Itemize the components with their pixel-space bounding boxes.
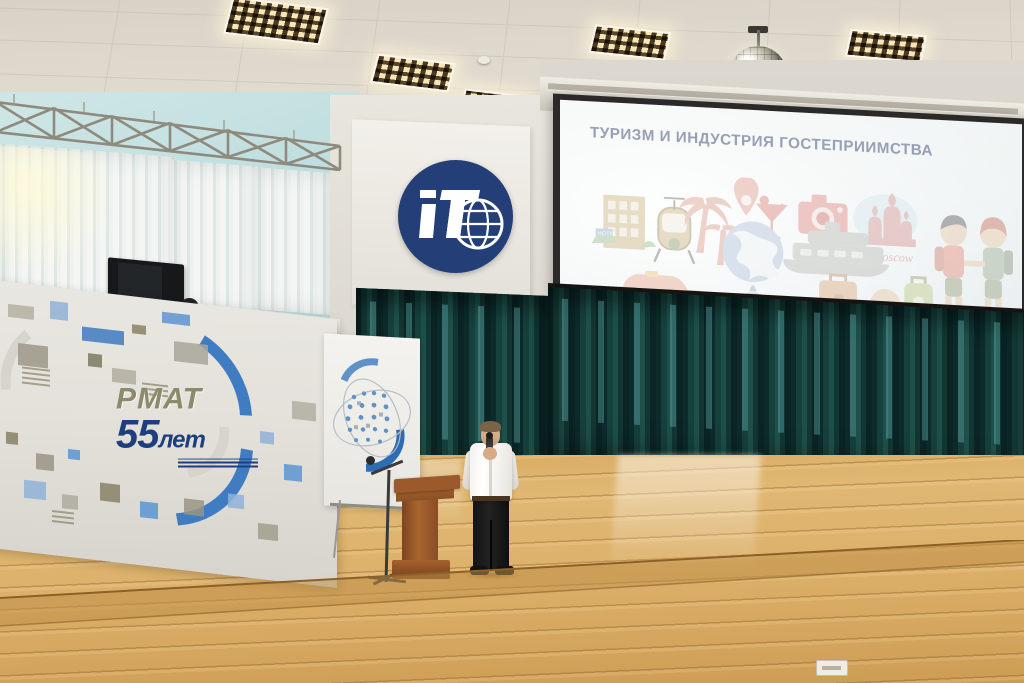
speaker-hair xyxy=(480,421,501,432)
cable-car-icon xyxy=(655,198,695,264)
smoke-detector-icon xyxy=(478,56,490,64)
conference-hall-photo: ТУРИЗМ И ИНДУСТРИЯ ГОСТЕПРИИМСТВА xyxy=(0,0,1024,683)
rmat-banner-text: РМАТ 55лет xyxy=(116,383,258,468)
stage-front-edge xyxy=(0,540,1024,660)
floor-outlet-box xyxy=(816,660,848,676)
hotel-building-icon: HOTEL xyxy=(592,194,656,250)
speaker-belt xyxy=(472,496,510,501)
photo-camera-icon xyxy=(799,194,848,236)
it-logo-emblem xyxy=(398,160,513,273)
mic-stand-head-icon xyxy=(366,456,375,465)
window-blinds xyxy=(252,167,330,315)
rmat-anniversary: 55лет xyxy=(116,413,258,458)
speaker-hands xyxy=(483,447,497,460)
lighting-truss xyxy=(0,88,342,172)
globe-icon xyxy=(723,220,784,284)
rmat-underline-accent xyxy=(178,459,258,468)
backpacker-couple-icon xyxy=(935,214,1013,317)
